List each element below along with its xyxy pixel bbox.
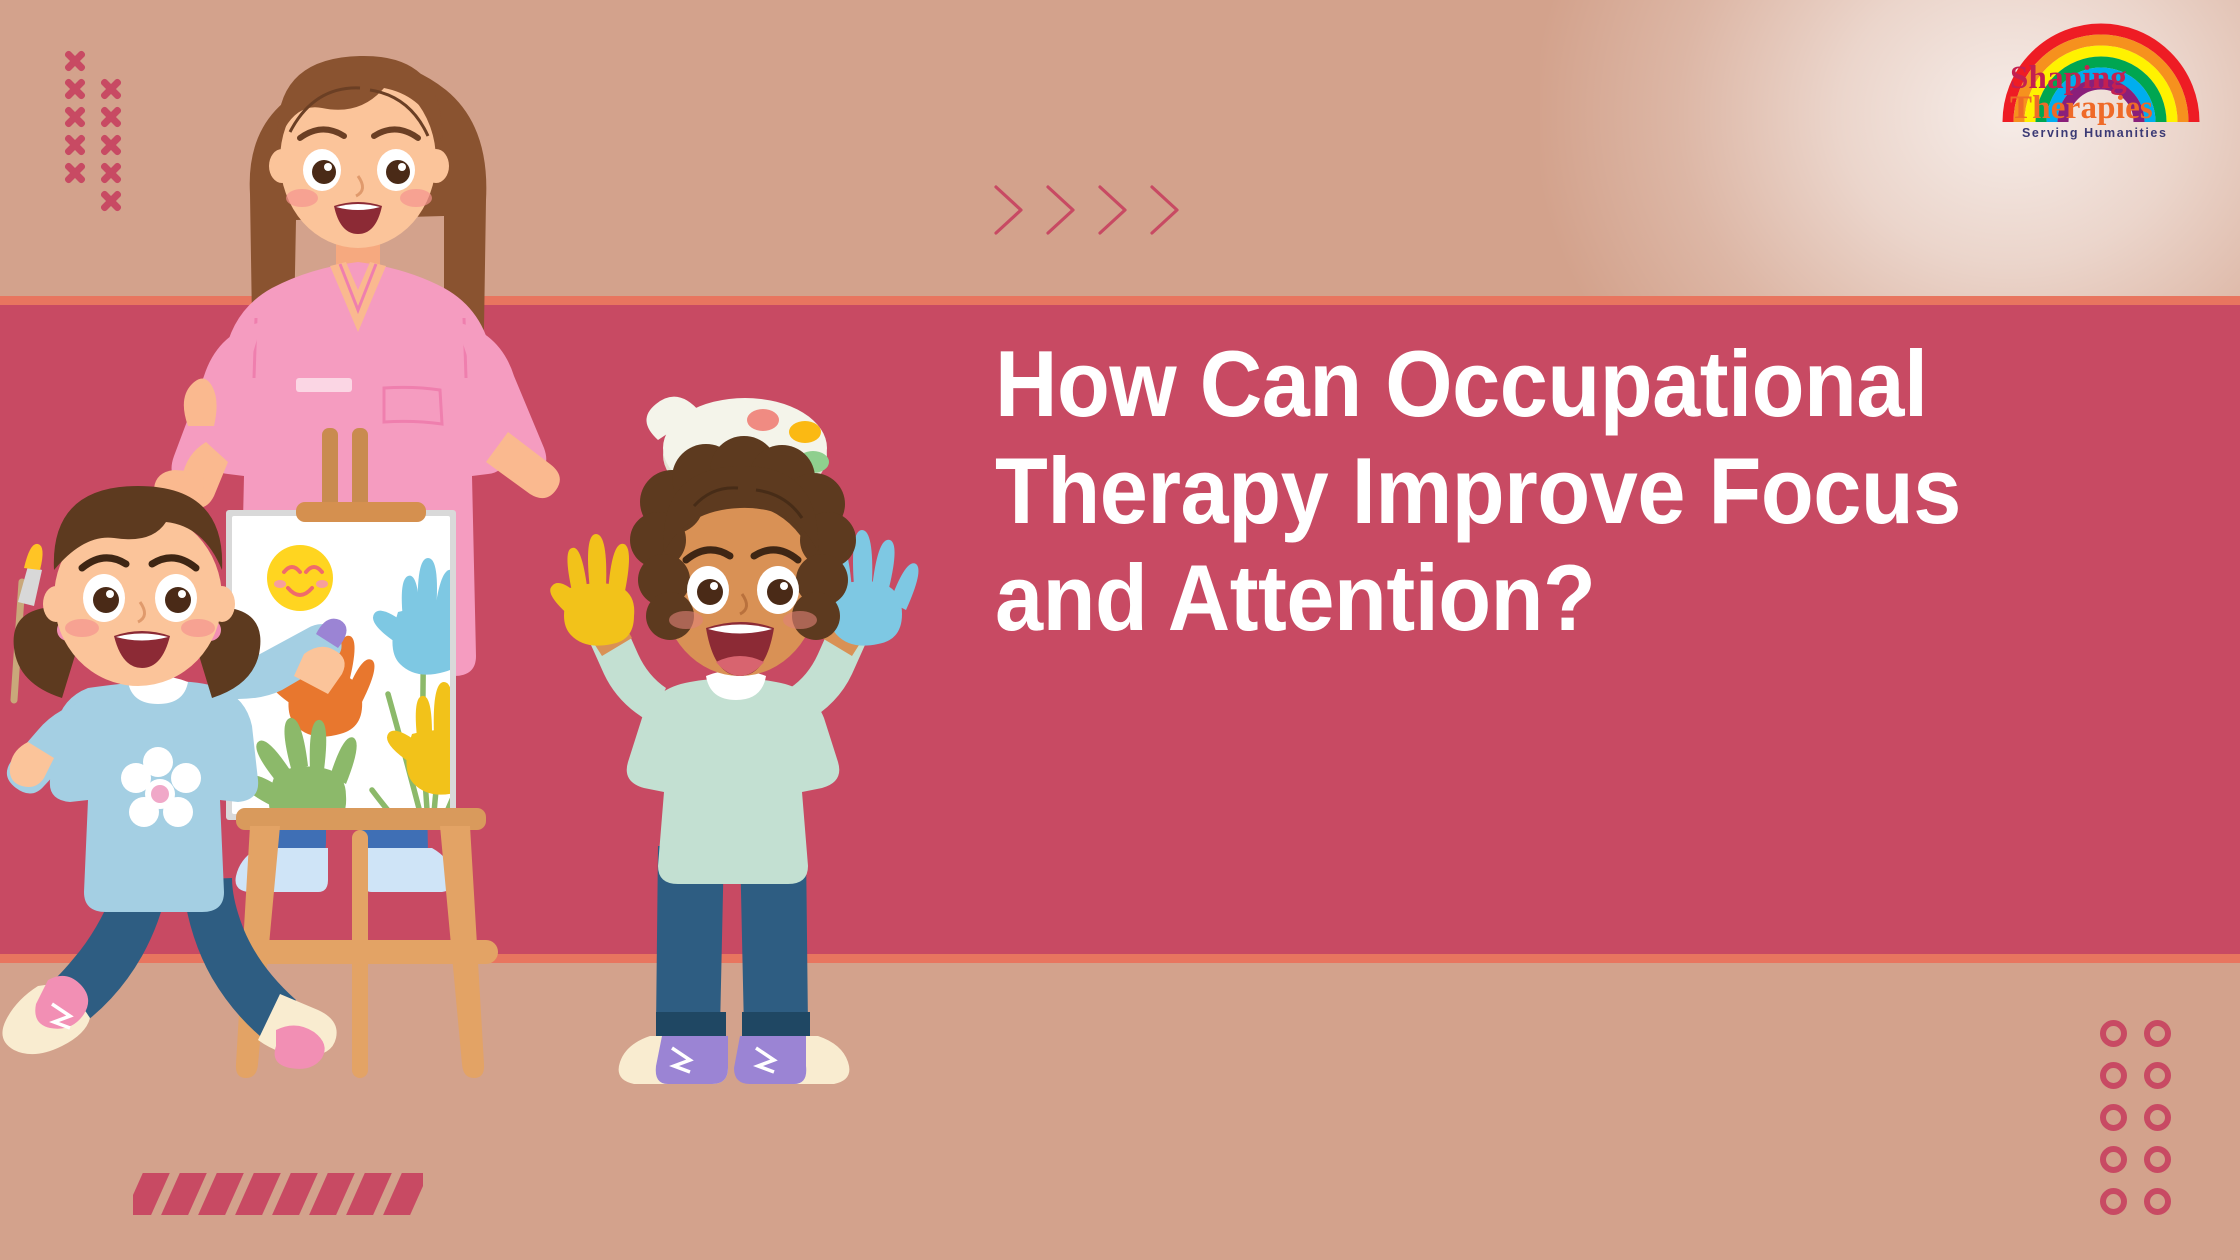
circle-outline-grid [2100,1020,2188,1230]
child-right-figure [550,436,918,1084]
palette-paint-red [747,409,779,431]
logo-line-2: Therapies [2010,90,2153,127]
page-title: How Can Occupational Therapy Improve Foc… [995,330,1998,651]
illustration-group [0,0,960,1105]
handprint-purple [475,722,584,836]
easel-with-canvas [226,428,584,1078]
chevron-right-icon [1092,182,1134,238]
handprint-yellow-hand-left [550,534,634,646]
handprint-yellow-right [477,636,580,747]
diagonal-stripe-bar [133,1173,423,1215]
chevron-right-outline-group [988,182,1186,238]
brand-logo[interactable]: Shaping Therapies Serving Humanities [1986,18,2216,150]
chevron-right-icon [1144,182,1186,238]
logo-tagline: Serving Humanities [2022,126,2168,140]
chevron-right-icon [1040,182,1082,238]
poster-canvas: How Can Occupational Therapy Improve Foc… [0,0,2240,1260]
chevron-right-icon [988,182,1030,238]
palette-paint-yellow [789,421,821,443]
sun-icon [267,545,333,611]
